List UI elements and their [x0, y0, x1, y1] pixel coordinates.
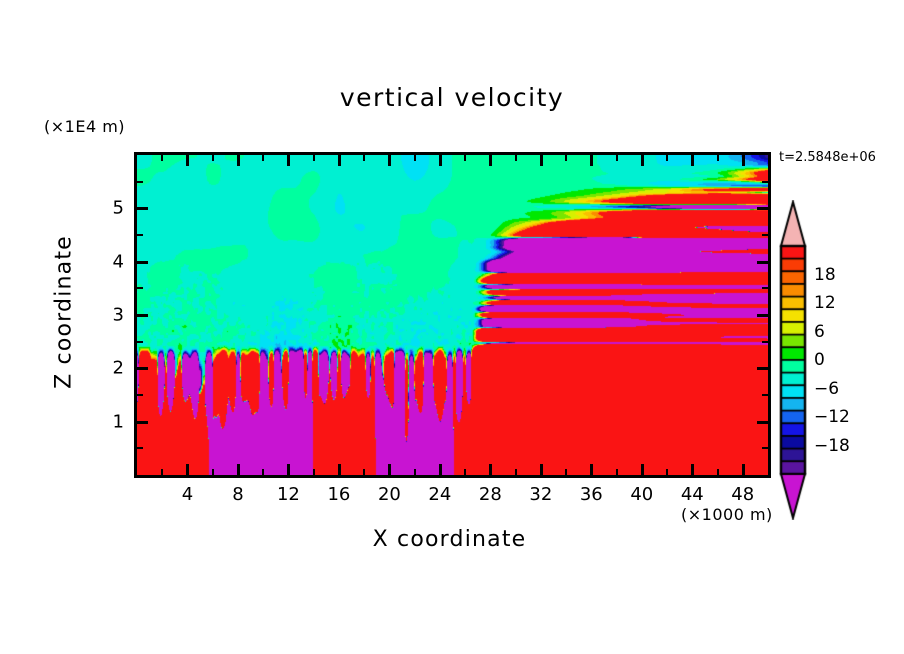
x-tick-label: 32 [529, 484, 552, 505]
x-tick-major-top [590, 155, 593, 166]
x-tick-major-top [742, 155, 745, 166]
colorbar [779, 200, 807, 520]
x-tick-major-top [439, 155, 442, 166]
x-tick-minor [212, 469, 214, 475]
y-tick-minor [137, 181, 143, 183]
x-tick-major-top [691, 155, 694, 166]
x-tick-minor-top [212, 155, 214, 161]
x-tick-minor [717, 469, 719, 475]
x-tick-major [590, 464, 593, 475]
x-tick-label: 48 [731, 484, 754, 505]
x-tick-minor [464, 469, 466, 475]
plot-area [134, 152, 771, 478]
y-tick-label: 4 [96, 251, 124, 272]
y-tick-minor [137, 234, 143, 236]
x-tick-label: 28 [479, 484, 502, 505]
x-tick-major-top [237, 155, 240, 166]
colorbar-gradient [779, 200, 807, 520]
y-tick-label: 1 [96, 411, 124, 432]
x-tick-minor-top [363, 155, 365, 161]
x-tick-major [489, 464, 492, 475]
y-tick-label: 2 [96, 358, 124, 379]
x-tick-minor [313, 469, 315, 475]
colorbar-tick-label: −6 [814, 379, 839, 399]
y-tick-major [137, 261, 148, 264]
y-tick-major-right [757, 261, 768, 264]
time-stamp-label: t=2.5848e+06 [779, 150, 876, 165]
x-tick-major [338, 464, 341, 475]
y-tick-minor [137, 394, 143, 396]
colorbar-tick-label: 0 [814, 350, 825, 370]
x-tick-minor [565, 469, 567, 475]
x-tick-minor-top [515, 155, 517, 161]
y-unit-label: (×1E4 m) [44, 117, 125, 136]
x-tick-minor [666, 469, 668, 475]
x-tick-major [237, 464, 240, 475]
y-tick-minor [137, 447, 143, 449]
y-tick-minor-right [762, 341, 768, 343]
colorbar-tick-label: 12 [814, 293, 836, 313]
x-tick-minor [161, 469, 163, 475]
y-tick-minor-right [762, 394, 768, 396]
y-tick-minor-right [762, 234, 768, 236]
x-tick-label: 16 [327, 484, 350, 505]
x-tick-minor-top [313, 155, 315, 161]
contour-field [137, 155, 768, 475]
x-tick-minor-top [161, 155, 163, 161]
x-tick-label: 4 [182, 484, 193, 505]
x-tick-minor [616, 469, 618, 475]
x-tick-minor-top [666, 155, 668, 161]
colorbar-tick-label: 18 [814, 265, 836, 285]
x-tick-minor [515, 469, 517, 475]
x-tick-major [742, 464, 745, 475]
x-tick-minor-top [565, 155, 567, 161]
x-tick-label: 36 [580, 484, 603, 505]
x-tick-label: 40 [630, 484, 653, 505]
x-tick-major [540, 464, 543, 475]
x-tick-major-top [641, 155, 644, 166]
x-tick-minor [262, 469, 264, 475]
x-tick-label: 12 [277, 484, 300, 505]
x-tick-minor-top [616, 155, 618, 161]
x-tick-label: 20 [378, 484, 401, 505]
x-tick-major-top [489, 155, 492, 166]
x-tick-label: 24 [428, 484, 451, 505]
y-tick-major [137, 314, 148, 317]
x-tick-major [388, 464, 391, 475]
y-tick-minor-right [762, 181, 768, 183]
y-axis-title: Z coordinate [52, 235, 77, 389]
colorbar-tick-label: −18 [814, 436, 850, 456]
y-tick-major-right [757, 207, 768, 210]
x-tick-minor [363, 469, 365, 475]
x-tick-major-top [388, 155, 391, 166]
x-tick-major [186, 464, 189, 475]
y-tick-minor [137, 341, 143, 343]
y-tick-major-right [757, 367, 768, 370]
x-tick-minor-top [262, 155, 264, 161]
x-tick-major [439, 464, 442, 475]
y-tick-minor-right [762, 287, 768, 289]
x-tick-minor [414, 469, 416, 475]
x-tick-minor-top [717, 155, 719, 161]
x-tick-label: 44 [681, 484, 704, 505]
x-tick-major [691, 464, 694, 475]
x-tick-major [641, 464, 644, 475]
figure-canvas: vertical velocity (×1E4 m) t=2.5848e+06 … [0, 0, 904, 654]
x-tick-major [287, 464, 290, 475]
colorbar-tick-label: −12 [814, 407, 850, 427]
y-tick-major [137, 421, 148, 424]
y-tick-minor-right [762, 447, 768, 449]
y-tick-minor [137, 287, 143, 289]
y-tick-major [137, 207, 148, 210]
x-tick-major-top [540, 155, 543, 166]
y-tick-major-right [757, 421, 768, 424]
y-tick-label: 3 [96, 305, 124, 326]
x-tick-minor-top [414, 155, 416, 161]
y-tick-major [137, 367, 148, 370]
x-tick-minor-top [464, 155, 466, 161]
x-unit-label: (×1000 m) [681, 505, 773, 524]
y-tick-label: 5 [96, 198, 124, 219]
page-title: vertical velocity [0, 83, 904, 112]
x-axis-title: X coordinate [134, 527, 765, 552]
x-tick-major-top [287, 155, 290, 166]
x-tick-label: 8 [232, 484, 243, 505]
x-tick-major-top [338, 155, 341, 166]
x-tick-major-top [186, 155, 189, 166]
y-tick-major-right [757, 314, 768, 317]
colorbar-tick-label: 6 [814, 322, 825, 342]
